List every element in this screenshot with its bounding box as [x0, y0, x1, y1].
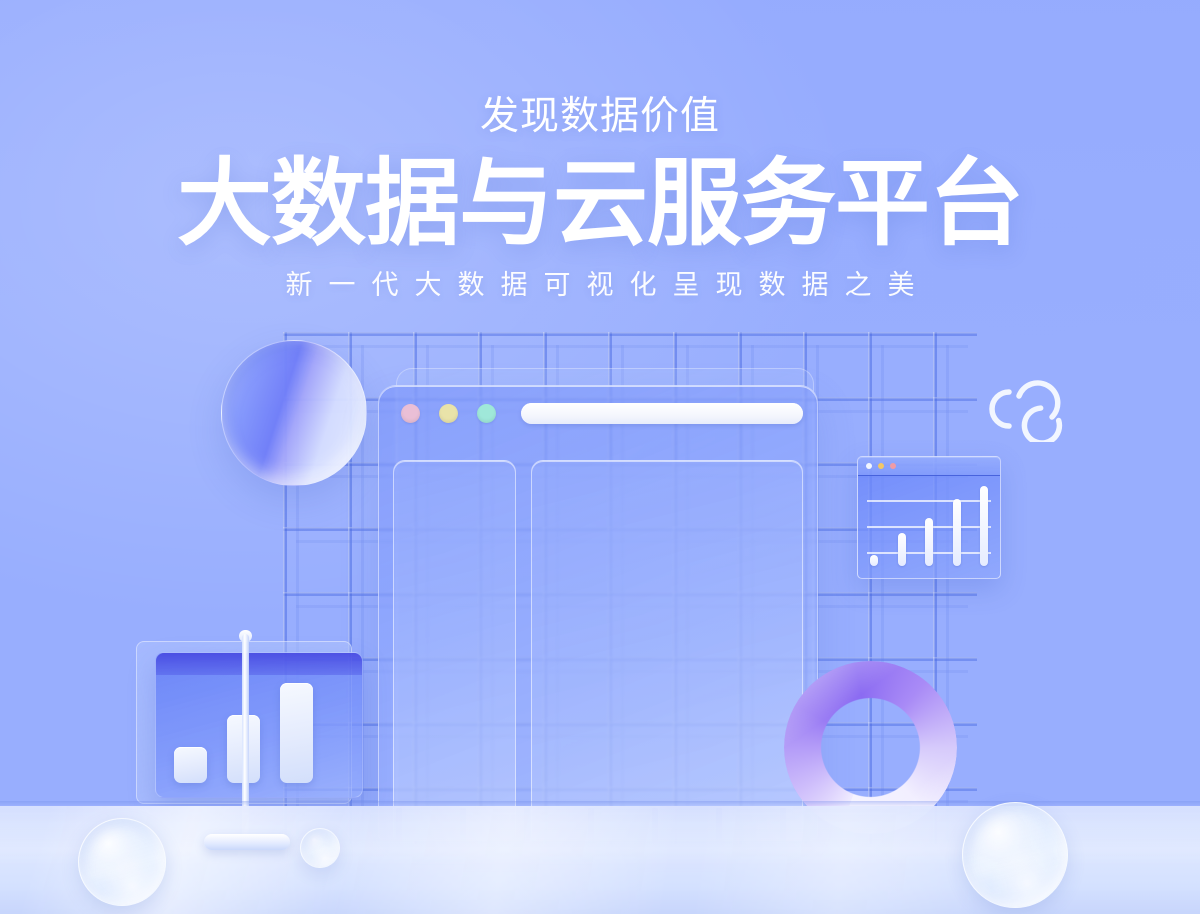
browser-title-bar: [379, 386, 817, 441]
glass-bubble-small: [300, 828, 340, 868]
floor-lamp-base: [204, 834, 290, 850]
left-chart-bars: [174, 683, 348, 783]
bar-chart-panel-header: [156, 653, 362, 675]
bar: [280, 683, 313, 783]
glass-bubble-right: [962, 802, 1068, 908]
hero-eyebrow: 发现数据价值: [0, 96, 1200, 139]
minimize-dot[interactable]: [439, 404, 458, 423]
mini-window-title-bar: [858, 457, 1000, 476]
maximize-dot[interactable]: [477, 404, 496, 423]
close-dot[interactable]: [401, 404, 420, 423]
address-bar-input[interactable]: [521, 403, 803, 424]
hero-banner-stage: 发现数据价值 大数据与云服务平台 新一代大数据可视化呈现数据之美: [0, 0, 1200, 914]
glass-bubble-left: [78, 818, 166, 906]
bar: [174, 747, 207, 783]
bar: [953, 499, 961, 566]
hero-copy: 发现数据价值 大数据与云服务平台 新一代大数据可视化呈现数据之美: [0, 0, 1200, 301]
cloud-icon: [978, 362, 1074, 442]
mini-chart-bars: [870, 484, 988, 566]
mini-analytics-window[interactable]: [857, 456, 1001, 579]
hero-tagline: 新一代大数据可视化呈现数据之美: [0, 269, 1200, 301]
bar: [870, 555, 878, 566]
bar: [898, 533, 906, 566]
content-pane[interactable]: [531, 460, 803, 841]
minimize-dot[interactable]: [878, 463, 884, 469]
bar: [980, 486, 988, 566]
bar-chart-panel[interactable]: [155, 652, 363, 798]
sidebar-pane[interactable]: [393, 460, 516, 841]
page-title: 大数据与云服务平台: [0, 155, 1200, 255]
close-dot[interactable]: [866, 463, 872, 469]
glass-browser-mockup[interactable]: [378, 385, 818, 841]
gradient-sphere: [221, 340, 367, 486]
bar: [925, 518, 933, 566]
maximize-dot[interactable]: [890, 463, 896, 469]
mini-chart-plot: [858, 476, 1000, 578]
